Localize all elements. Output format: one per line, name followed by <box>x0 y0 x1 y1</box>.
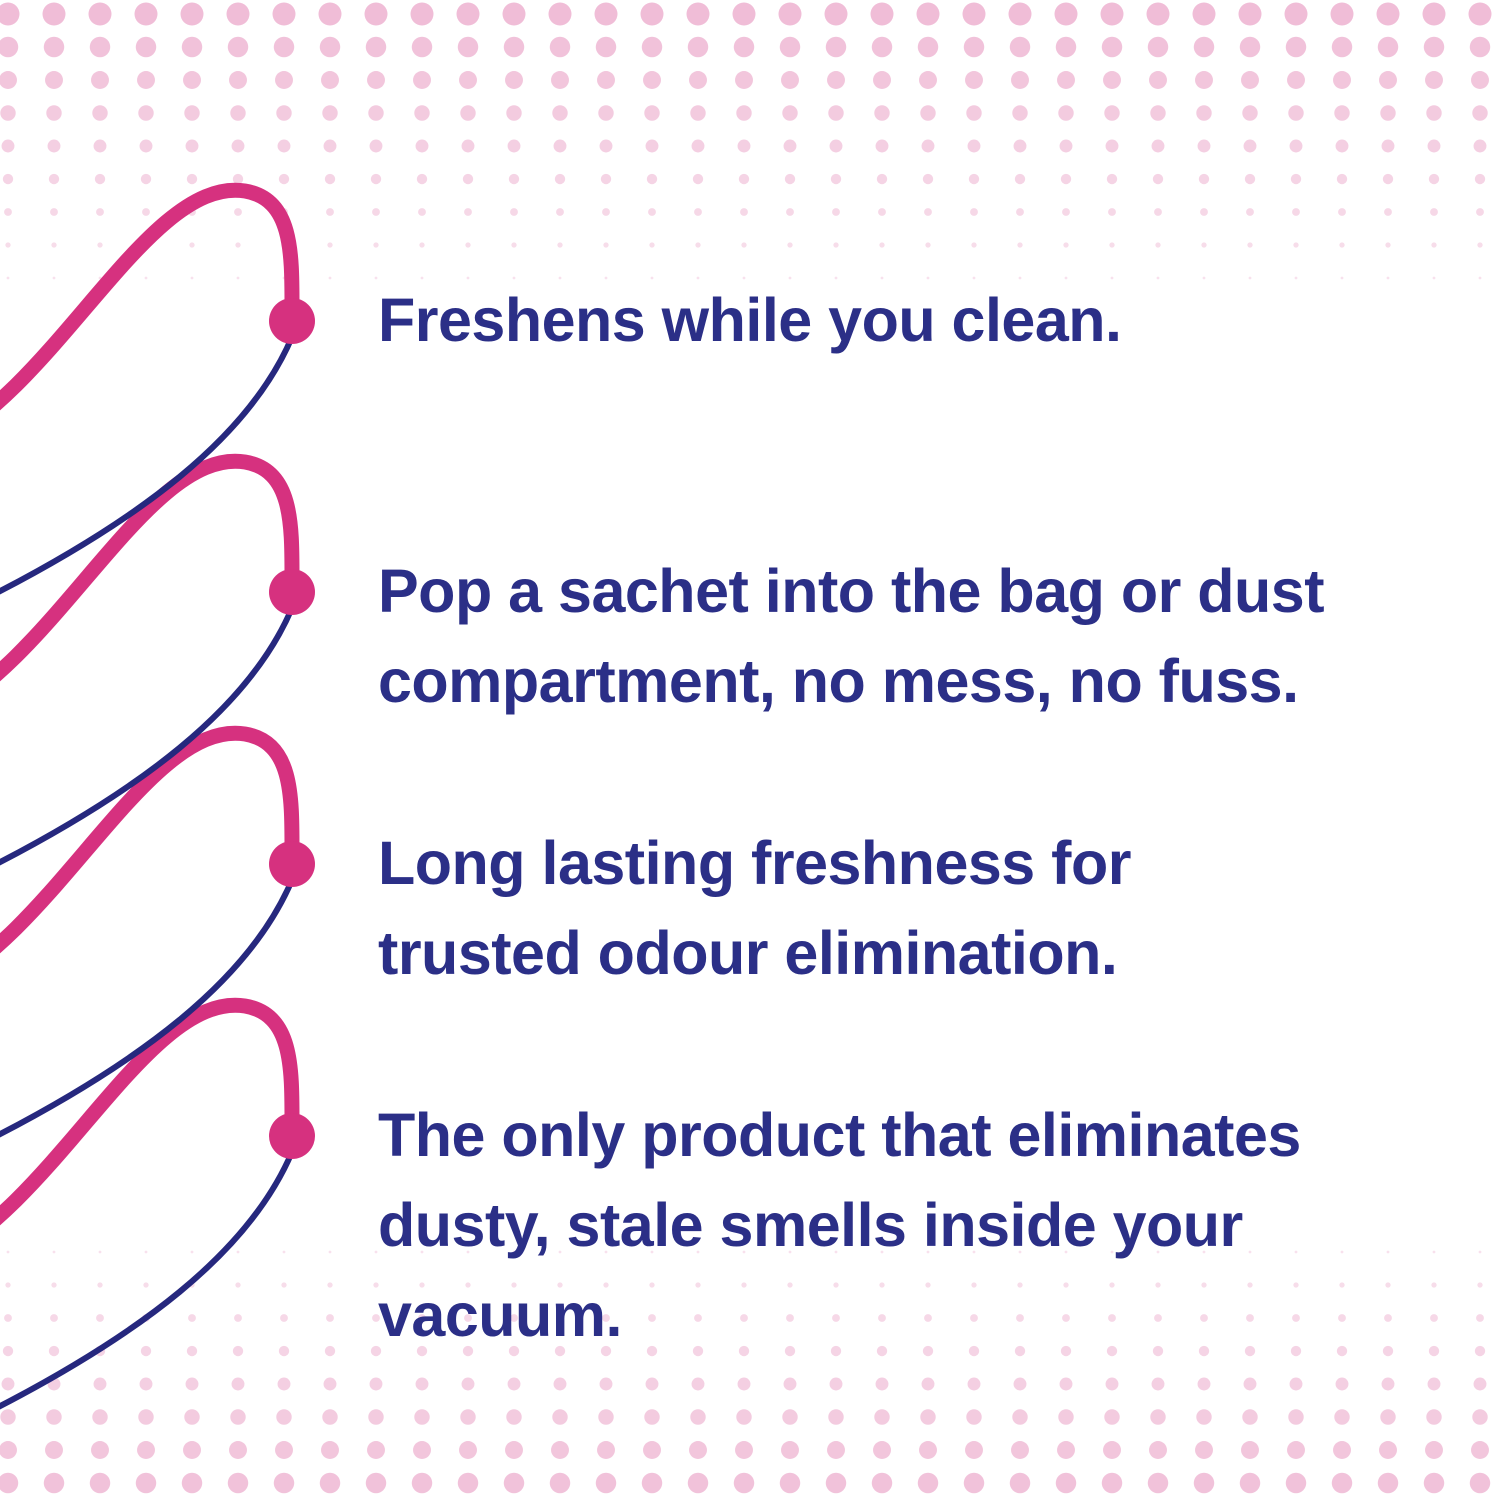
feature-item-long-lasting-freshness: Long lasting freshness for trusted odour… <box>378 818 1448 998</box>
bullet-dot-freshens-while-you-clean <box>269 298 315 344</box>
feature-item-freshens-while-you-clean: Freshens while you clean. <box>378 275 1448 365</box>
feature-text-eliminates-dusty-stale-smells: The only product that eliminates dusty, … <box>378 1090 1448 1360</box>
feature-list: Freshens while you clean.Pop a sachet in… <box>0 0 1500 1500</box>
feature-item-eliminates-dusty-stale-smells: The only product that eliminates dusty, … <box>378 1090 1448 1360</box>
feature-item-pop-a-sachet: Pop a sachet into the bag or dust compar… <box>378 546 1448 726</box>
bullet-dot-long-lasting-freshness <box>269 841 315 887</box>
product-feature-graphic: Freshens while you clean.Pop a sachet in… <box>0 0 1500 1500</box>
bullet-dot-eliminates-dusty-stale-smells <box>269 1113 315 1159</box>
feature-text-long-lasting-freshness: Long lasting freshness for trusted odour… <box>378 818 1448 998</box>
feature-text-pop-a-sachet: Pop a sachet into the bag or dust compar… <box>378 546 1448 726</box>
bullet-dot-pop-a-sachet <box>269 569 315 615</box>
feature-text-freshens-while-you-clean: Freshens while you clean. <box>378 275 1448 365</box>
